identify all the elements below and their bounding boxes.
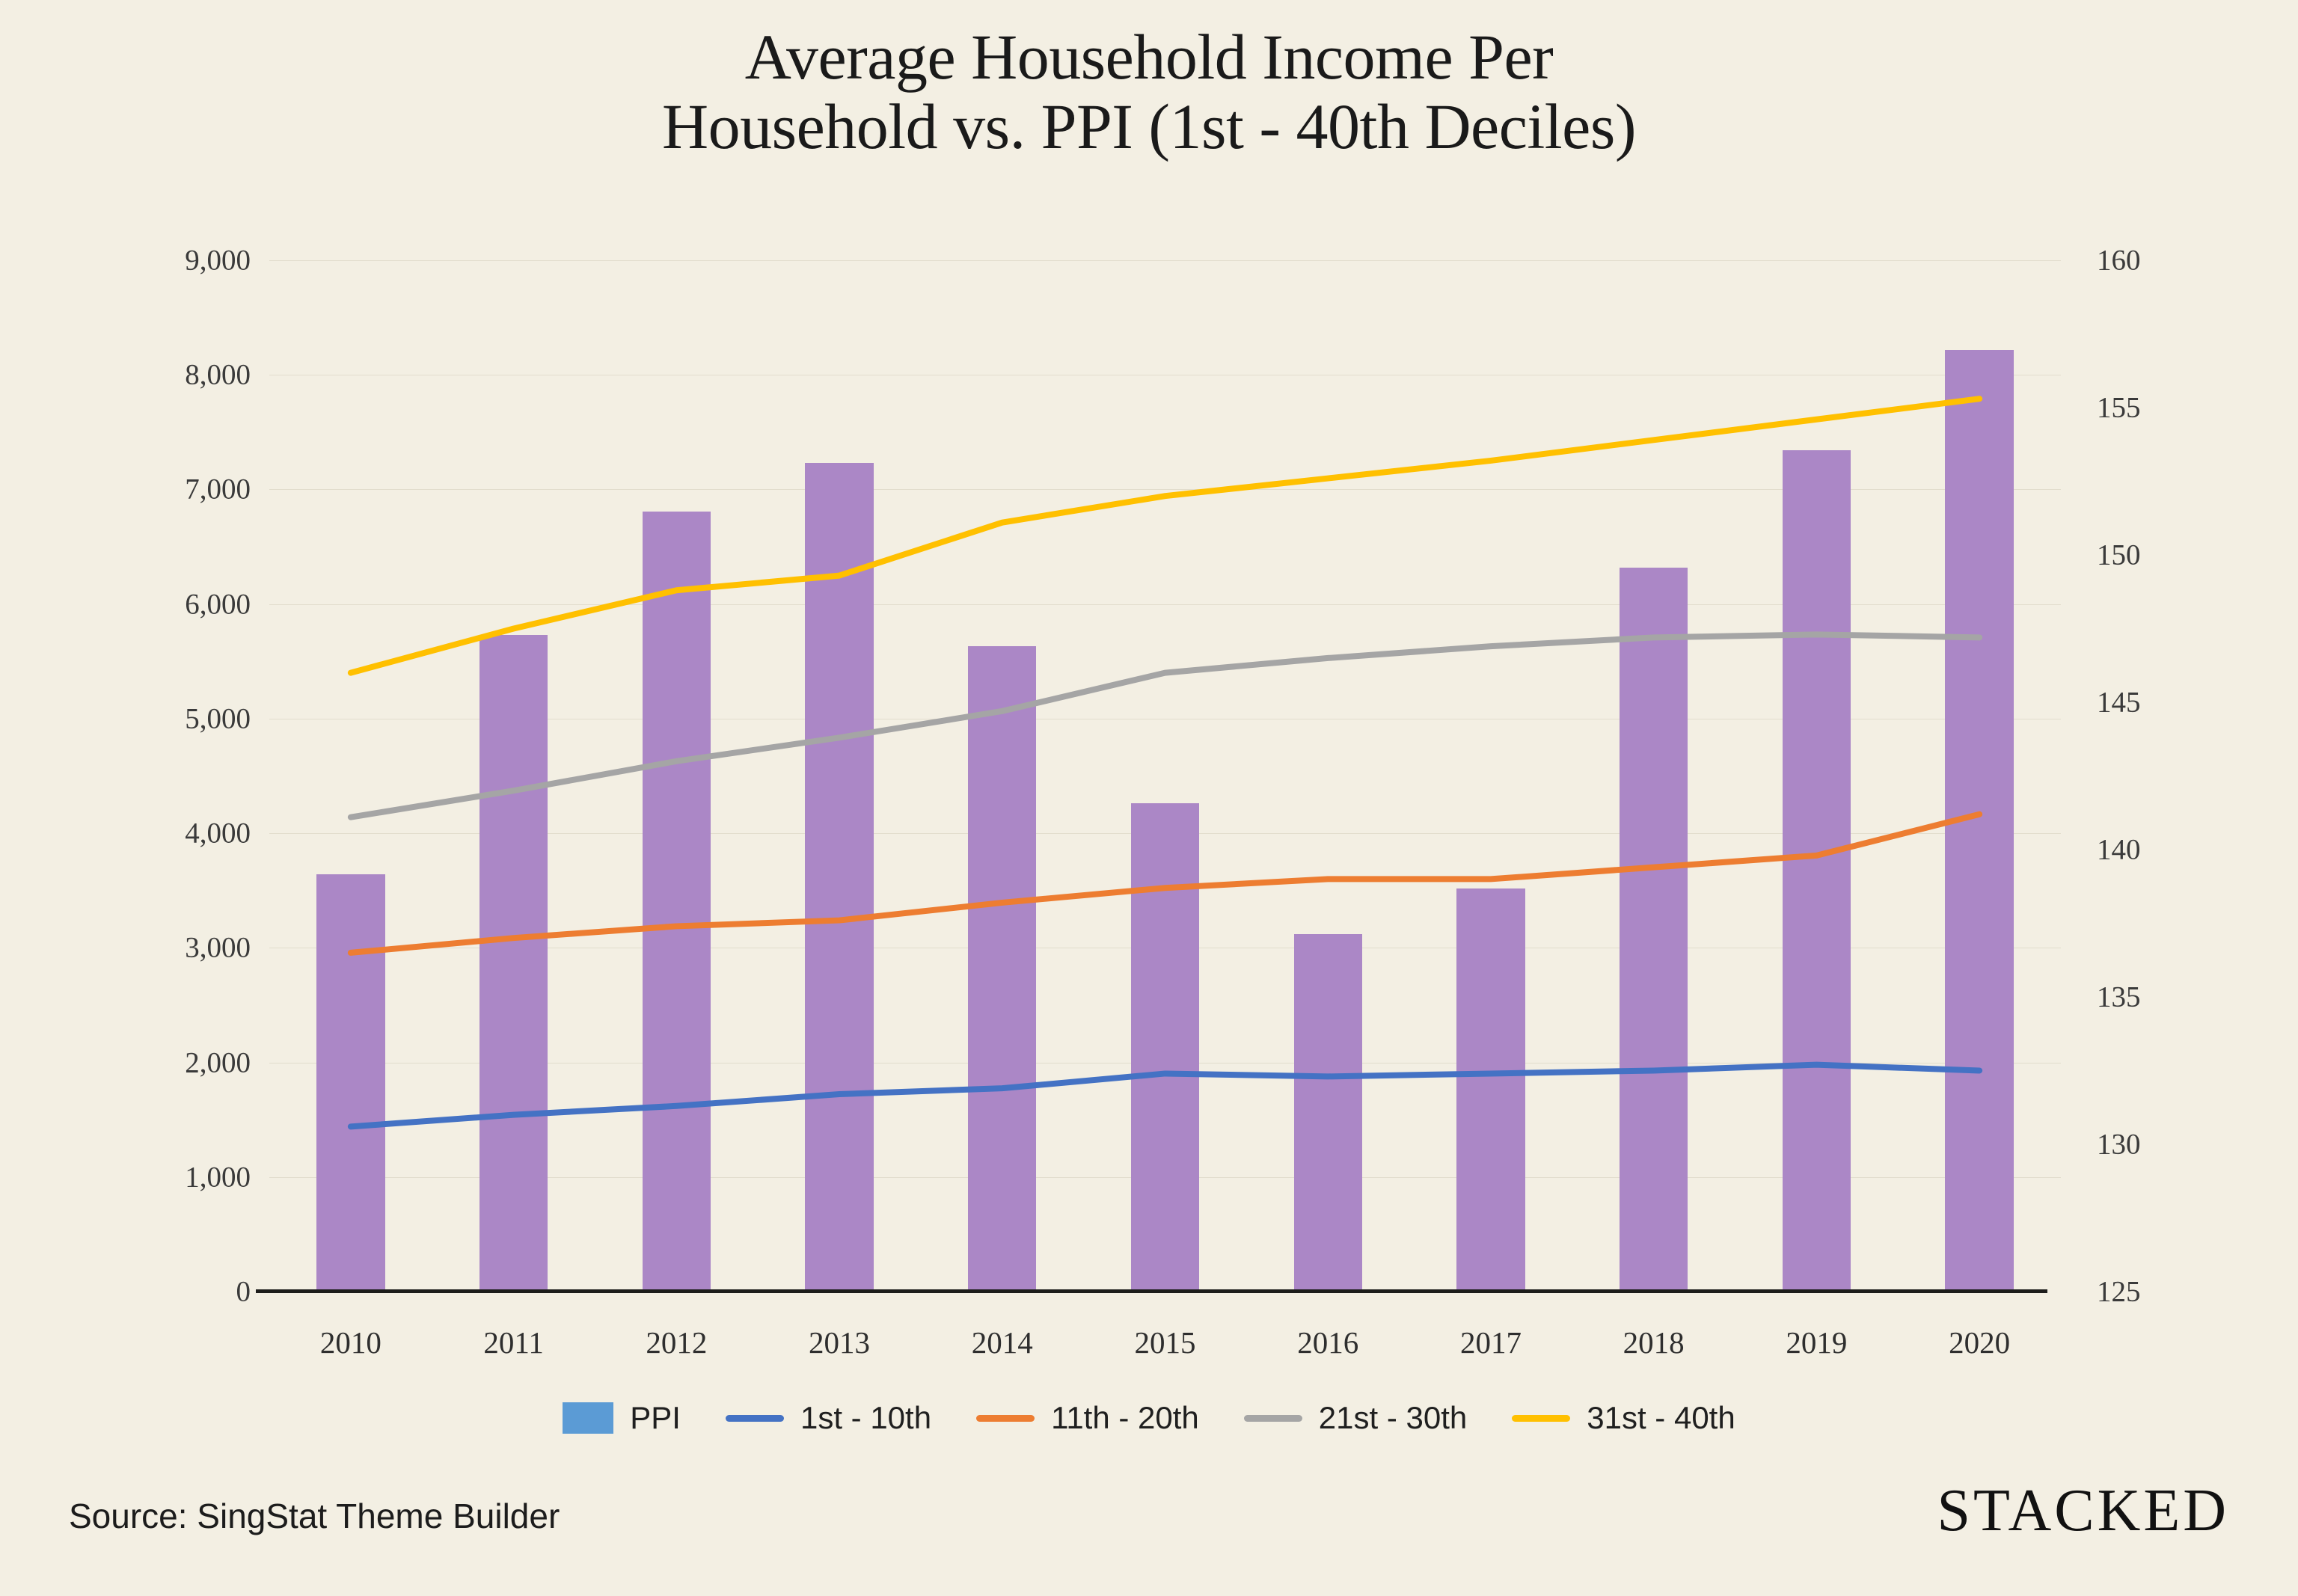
x-tick-2016: 2016: [1297, 1325, 1358, 1360]
legend-swatch-line-icon: [1244, 1415, 1302, 1422]
x-tick-2011: 2011: [483, 1325, 543, 1360]
legend-swatch-line-icon: [726, 1415, 784, 1422]
y-tick-right-125: 125: [2097, 1275, 2231, 1309]
line-1st-10th: [351, 1065, 1979, 1127]
x-tick-2018: 2018: [1623, 1325, 1685, 1360]
legend-label: 1st - 10th: [800, 1400, 931, 1436]
legend-swatch-line-icon: [976, 1415, 1035, 1422]
y-tick-right-135: 135: [2097, 980, 2231, 1014]
y-tick-left-2000: 2,000: [86, 1046, 251, 1079]
y-tick-left-6000: 6,000: [86, 587, 251, 621]
line-21st-30th: [351, 634, 1979, 817]
x-tick-2012: 2012: [646, 1325, 707, 1360]
y-tick-left-5000: 5,000: [86, 702, 251, 735]
brand-logo: STACKED: [1937, 1477, 2230, 1545]
legend-label: 21st - 30th: [1319, 1400, 1467, 1436]
y-tick-right-150: 150: [2097, 538, 2231, 572]
legend-11th-20th[interactable]: 11th - 20th: [976, 1400, 1199, 1436]
y-tick-left-1000: 1,000: [86, 1160, 251, 1194]
source-note: Source: SingStat Theme Builder: [69, 1496, 560, 1536]
legend-31st-40th[interactable]: 31st - 40th: [1512, 1400, 1735, 1436]
x-tick-2019: 2019: [1786, 1325, 1847, 1360]
legend-label: 11th - 20th: [1051, 1400, 1199, 1436]
chart-title-line-2: Household vs. PPI (1st - 40th Deciles): [0, 92, 2298, 162]
legend-21st-30th[interactable]: 21st - 30th: [1244, 1400, 1467, 1436]
y-tick-right-130: 130: [2097, 1128, 2231, 1161]
y-tick-left-3000: 3,000: [86, 931, 251, 965]
y-tick-left-7000: 7,000: [86, 473, 251, 506]
x-tick-2020: 2020: [1949, 1325, 2010, 1360]
legend-ppi[interactable]: PPI: [563, 1400, 681, 1436]
y-tick-right-160: 160: [2097, 244, 2231, 277]
chart-title-line-1: Average Household Income Per: [0, 22, 2298, 92]
y-tick-right-140: 140: [2097, 833, 2231, 867]
x-tick-2010: 2010: [320, 1325, 382, 1360]
y-tick-left-8000: 8,000: [86, 358, 251, 392]
legend-label: 31st - 40th: [1587, 1400, 1735, 1436]
chart-legend: PPI1st - 10th11th - 20th21st - 30th31st …: [0, 1400, 2298, 1436]
x-tick-2015: 2015: [1135, 1325, 1196, 1360]
x-tick-2017: 2017: [1460, 1325, 1522, 1360]
y-tick-left-4000: 4,000: [86, 817, 251, 850]
y-tick-right-155: 155: [2097, 391, 2231, 425]
chart-root: Average Household Income Per Household v…: [0, 0, 2298, 1596]
legend-swatch-line-icon: [1512, 1415, 1570, 1422]
legend-swatch-box-icon: [563, 1402, 613, 1434]
legend-label: PPI: [630, 1400, 681, 1436]
line-series: [269, 260, 2061, 1292]
chart-title: Average Household Income Per Household v…: [0, 22, 2298, 162]
y-tick-left-9000: 9,000: [86, 244, 251, 277]
legend-1st-10th[interactable]: 1st - 10th: [726, 1400, 931, 1436]
x-tick-2014: 2014: [972, 1325, 1033, 1360]
line-31st-40th: [351, 399, 1979, 672]
line-11th-20th: [351, 814, 1979, 953]
y-tick-left-0: 0: [86, 1275, 251, 1309]
plot-area: [269, 260, 2061, 1292]
y-tick-right-145: 145: [2097, 686, 2231, 719]
x-axis-line: [256, 1289, 2047, 1293]
x-tick-2013: 2013: [809, 1325, 870, 1360]
